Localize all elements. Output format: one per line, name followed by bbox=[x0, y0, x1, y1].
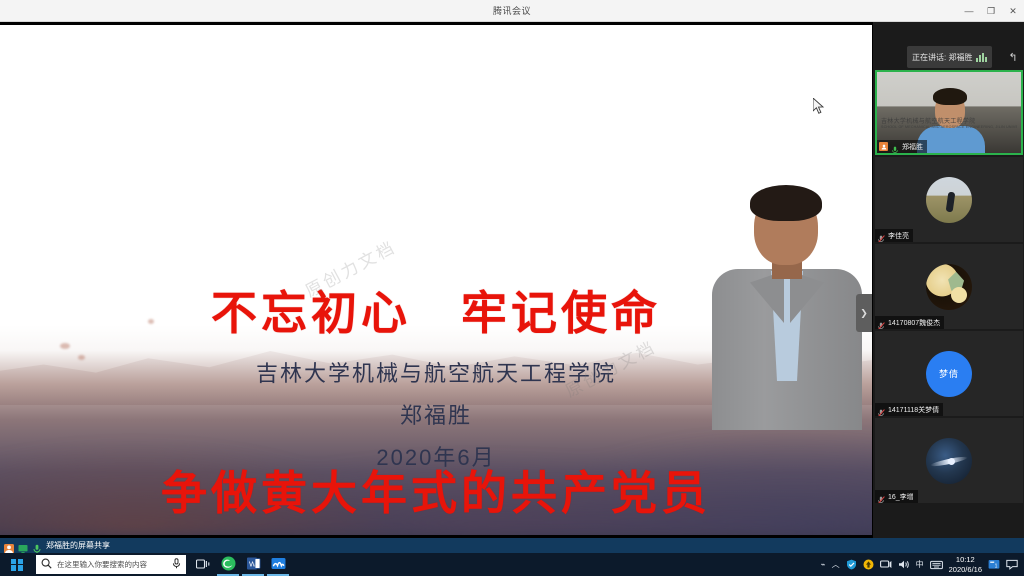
active-speaker-bar: 正在讲话: 郑福胜 ↰ bbox=[873, 46, 1024, 68]
meeting-window-body: 不忘初心 牢记使命 争做黄大年式的共产党员 吉林大学机械与航空航天工程学院 郑福… bbox=[0, 22, 1024, 538]
host-icon bbox=[4, 541, 14, 551]
search-placeholder: 在这里输入你要搜索的内容 bbox=[57, 559, 147, 570]
active-speaker-pill: 正在讲话: 郑福胜 bbox=[907, 46, 992, 68]
avatar-initials: 梦倩 bbox=[939, 367, 959, 380]
avatar bbox=[926, 264, 972, 310]
chevron-up-icon[interactable]: ︿ bbox=[832, 559, 840, 570]
participant-name: 16_李增 bbox=[888, 492, 914, 502]
mic-muted-icon bbox=[877, 231, 885, 240]
pen-icon[interactable]: ⌁ bbox=[821, 560, 826, 569]
taskbar-item-browser[interactable] bbox=[217, 553, 239, 576]
clock-date: 2020/6/16 bbox=[949, 565, 982, 575]
action-center-icon[interactable]: 1 bbox=[988, 559, 1000, 570]
notify-icon[interactable] bbox=[1006, 559, 1018, 570]
screen-share-bar: 郑福胜的屏幕共享 bbox=[0, 538, 1024, 553]
search-input[interactable]: 在这里输入你要搜索的内容 bbox=[36, 555, 186, 574]
window-title: 腾讯会议 bbox=[493, 4, 531, 17]
avatar: 梦倩 bbox=[926, 351, 972, 397]
start-button[interactable] bbox=[0, 553, 34, 576]
participant-name: 李佳亮 bbox=[888, 231, 909, 241]
participant-label: 14170807魏俊杰 bbox=[875, 316, 944, 329]
participant-name: 郑福胜 bbox=[902, 142, 923, 152]
shared-screen-stage[interactable]: 不忘初心 牢记使命 争做黄大年式的共产党员 吉林大学机械与航空航天工程学院 郑福… bbox=[0, 22, 872, 538]
window-title-bar: 腾讯会议 — ❐ ✕ bbox=[0, 0, 1024, 22]
mouse-cursor bbox=[813, 98, 825, 115]
participant-label: 郑福胜 bbox=[877, 140, 927, 153]
participant-name: 14170807魏俊杰 bbox=[888, 318, 940, 328]
slide-subtitle-line-3: 2020年6月 bbox=[0, 437, 872, 479]
system-tray: ⌁ ︿ 中 10:12 2020/6/16 1 bbox=[821, 555, 1024, 575]
participant-label: 14171118关梦倩 bbox=[875, 403, 943, 416]
mic-muted-icon bbox=[877, 492, 885, 501]
participant-tile-video[interactable]: 吉林大学机械与航空航天工程学院 SCHOOL OF MECHANICAL AND… bbox=[875, 70, 1023, 155]
update-icon[interactable] bbox=[863, 559, 874, 570]
avatar bbox=[926, 177, 972, 223]
screen-icon bbox=[18, 541, 28, 551]
sidebar-collapse-handle[interactable]: ❯ bbox=[856, 294, 872, 332]
svg-text:1: 1 bbox=[995, 564, 998, 570]
participant-tile-avatar[interactable]: 16_李增 bbox=[875, 418, 1023, 503]
shield-icon[interactable] bbox=[846, 559, 857, 570]
host-icon bbox=[879, 142, 888, 151]
mic-muted-icon bbox=[877, 318, 885, 327]
window-controls: — ❐ ✕ bbox=[958, 0, 1024, 22]
windows-taskbar: 在这里输入你要搜索的内容 W ⌁ ︿ 中 bbox=[0, 553, 1024, 576]
mic-icon bbox=[32, 541, 42, 551]
participant-hair bbox=[933, 88, 967, 105]
taskbar-item-meeting[interactable] bbox=[267, 553, 289, 576]
presenter-photo bbox=[710, 185, 865, 430]
keyboard-icon[interactable] bbox=[930, 560, 943, 570]
cortana-mic-icon[interactable] bbox=[172, 556, 181, 574]
volume-icon[interactable] bbox=[898, 559, 910, 570]
participant-label: 16_李增 bbox=[875, 490, 918, 503]
network-icon[interactable] bbox=[880, 559, 892, 570]
active-speaker-label: 正在讲话: 郑福胜 bbox=[912, 52, 972, 63]
clock-time: 10:12 bbox=[949, 555, 982, 565]
participant-tile-list: 吉林大学机械与航空航天工程学院 SCHOOL OF MECHANICAL AND… bbox=[873, 70, 1024, 505]
audio-level-icon bbox=[976, 53, 987, 62]
collapse-sidebar-arrow-icon[interactable]: ↰ bbox=[1005, 50, 1021, 64]
windows-logo-icon bbox=[11, 559, 23, 571]
taskbar-item-word[interactable]: W bbox=[242, 553, 264, 576]
room-banner-text: 吉林大学机械与航空航天工程学院 SCHOOL OF MECHANICAL AND… bbox=[881, 116, 1017, 132]
search-icon bbox=[41, 556, 52, 574]
maximize-button[interactable]: ❐ bbox=[980, 0, 1002, 22]
taskbar-app-icons: W bbox=[192, 553, 289, 576]
presenter-hair bbox=[750, 185, 822, 221]
ime-language-icon[interactable]: 中 bbox=[916, 559, 924, 570]
presentation-slide: 不忘初心 牢记使命 争做黄大年式的共产党员 吉林大学机械与航空航天工程学院 郑福… bbox=[0, 25, 872, 535]
participant-tile-avatar[interactable]: 李佳亮 bbox=[875, 157, 1023, 242]
mic-muted-icon bbox=[877, 405, 885, 414]
participant-tile-avatar[interactable]: 14170807魏俊杰 bbox=[875, 244, 1023, 329]
minimize-button[interactable]: — bbox=[958, 0, 980, 22]
participants-sidebar: 正在讲话: 郑福胜 ↰ 吉林大学机械与航空航天工程学院 SCHOOL OF ME… bbox=[872, 22, 1024, 538]
room-banner-subtext: SCHOOL OF MECHANICAL AND AEROSPACE ENGIN… bbox=[881, 125, 1017, 129]
participant-name: 14171118关梦倩 bbox=[888, 405, 939, 415]
avatar bbox=[926, 438, 972, 484]
screen-share-label: 郑福胜的屏幕共享 bbox=[46, 540, 110, 551]
participant-label: 李佳亮 bbox=[875, 229, 913, 242]
close-button[interactable]: ✕ bbox=[1002, 0, 1024, 22]
chevron-right-icon: ❯ bbox=[860, 308, 868, 319]
taskbar-item-task-view[interactable] bbox=[192, 553, 214, 576]
mic-on-icon bbox=[891, 142, 899, 151]
participant-tile-avatar[interactable]: 梦倩 14171118关梦倩 bbox=[875, 331, 1023, 416]
taskbar-clock[interactable]: 10:12 2020/6/16 bbox=[949, 555, 982, 575]
